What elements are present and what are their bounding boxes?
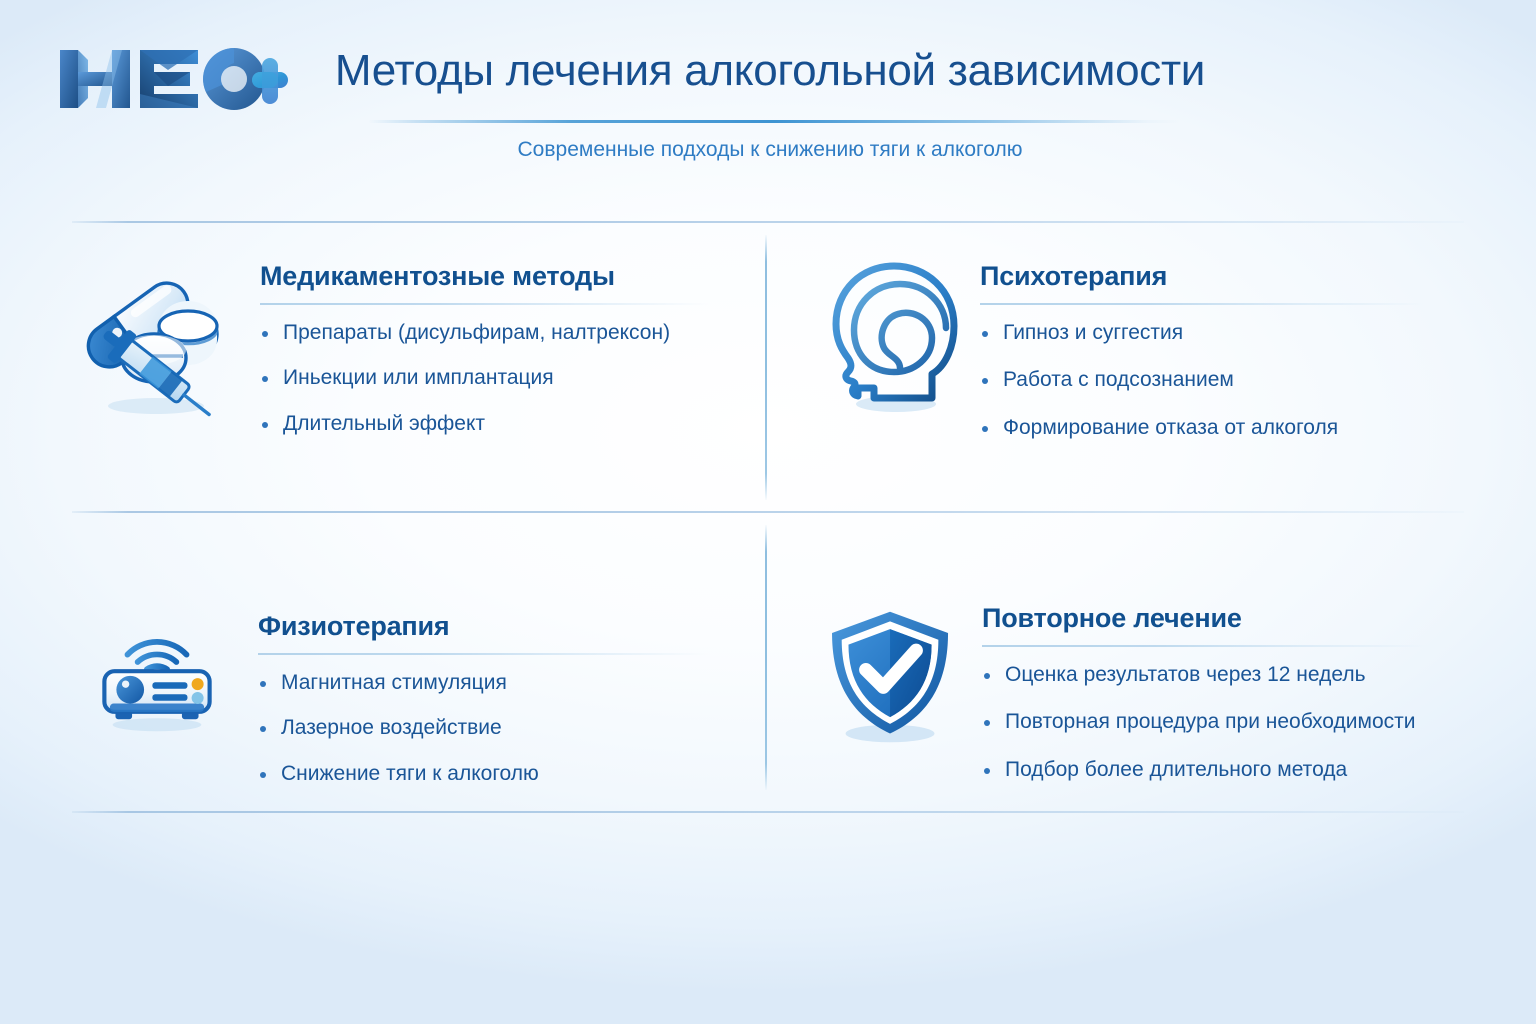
card-body-psychotherapy: Психотерапия Гипноз и суггестия Работа с… [964, 238, 1450, 463]
brand-logo [56, 42, 288, 116]
page-subtitle: Современные подходы к снижению тяги к ал… [300, 138, 1240, 162]
pills-syringe-graphic [84, 258, 234, 418]
card-title-medication: Медикаментозные методы [260, 262, 750, 292]
header: Методы лечения алкогольной зависимости С… [0, 0, 1536, 200]
bullet-list-medication: Препараты (дисульфирам, налтрексон) Инье… [260, 321, 750, 436]
card-title-physiotherapy: Физиотерапия [258, 612, 750, 642]
divider-bottom [72, 811, 1464, 813]
list-item: Препараты (дисульфирам, налтрексон) [260, 321, 750, 345]
card-title-underline [980, 303, 1430, 305]
indicator-lightblue [192, 692, 204, 704]
shield-check-graphic [816, 604, 966, 749]
list-item: Повторная процедура при необходимости [982, 710, 1450, 734]
card-medication: Медикаментозные методы Препараты (дисуль… [78, 238, 750, 435]
card-title-underline [258, 653, 710, 655]
list-item: Магнитная стимуляция [258, 671, 750, 695]
card-title-repeat-treatment: Повторное лечение [982, 604, 1450, 634]
card-psychotherapy: Психотерапия Гипноз и суггестия Работа с… [800, 238, 1450, 463]
wave-device-graphic [82, 614, 232, 734]
card-title-underline [982, 645, 1432, 647]
logo-neo-plus-icon [56, 42, 288, 116]
head-spiral-icon [814, 256, 964, 416]
list-item: Длительный эффект [260, 412, 750, 436]
page-title: Методы лечения алкогольной зависимости [300, 46, 1240, 96]
list-item: Гипноз и суггестия [980, 321, 1450, 345]
card-body-medication: Медикаментозные методы Препараты (дисуль… [234, 238, 750, 435]
card-body-repeat-treatment: Повторное лечение Оценка результатов чер… [966, 528, 1450, 805]
cards-grid: Медикаментозные методы Препараты (дисуль… [0, 222, 1536, 811]
wave-device-icon [82, 614, 232, 734]
card-body-physiotherapy: Физиотерапия Магнитная стимуляция Лазерн… [232, 528, 750, 785]
list-item: Лазерное воздействие [258, 716, 750, 740]
list-item: Работа с подсознанием [980, 368, 1450, 392]
title-divider [368, 120, 1180, 123]
infographic-page: Методы лечения алкогольной зависимости С… [0, 0, 1536, 1024]
list-item: Оценка результатов через 12 недель [982, 663, 1450, 687]
logo-letter-e-icon [140, 50, 198, 108]
card-repeat-treatment: Повторное лечение Оценка результатов чер… [800, 528, 1450, 805]
head-spiral-graphic [814, 256, 964, 416]
logo-letter-n-icon [60, 50, 130, 108]
list-item: Снижение тяги к алкоголю [258, 762, 750, 786]
bullet-list-psychotherapy: Гипноз и суггестия Работа с подсознанием… [980, 321, 1450, 440]
card-title-underline [260, 303, 712, 305]
list-item: Формирование отказа от алкоголя [980, 416, 1450, 440]
bullet-list-repeat-treatment: Оценка результатов через 12 недель Повто… [982, 663, 1450, 782]
indicator-orange [192, 678, 204, 690]
card-physiotherapy: Физиотерапия Магнитная стимуляция Лазерн… [78, 528, 750, 785]
list-item: Подбор более длительного метода [982, 758, 1450, 782]
list-item: Иньекции или имплантация [260, 366, 750, 390]
bullet-list-physiotherapy: Магнитная стимуляция Лазерное воздействи… [258, 671, 750, 786]
signal-waves [127, 642, 186, 670]
pills-syringe-icon [84, 258, 234, 418]
shield-check-icon [816, 604, 966, 749]
card-title-psychotherapy: Психотерапия [980, 262, 1450, 292]
